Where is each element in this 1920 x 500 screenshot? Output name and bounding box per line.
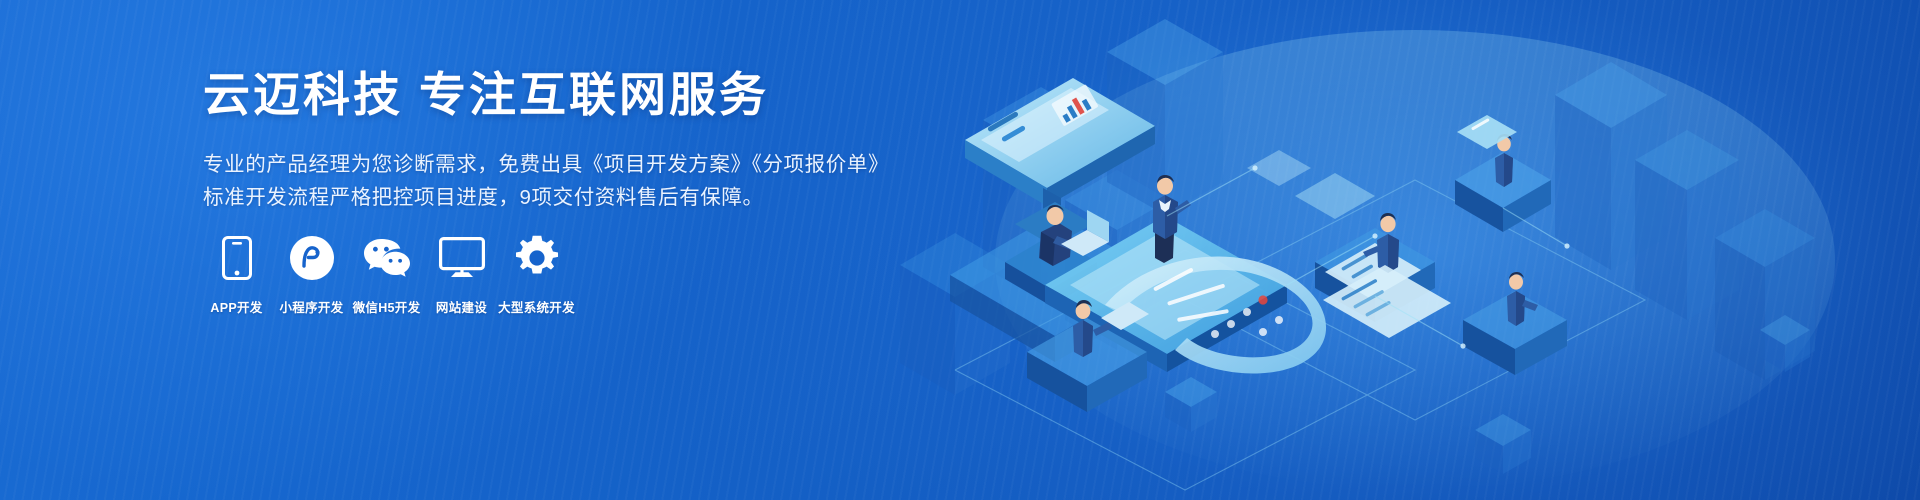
service-item-miniprogram[interactable]: 小程序开发	[275, 232, 348, 316]
mobile-phone-icon	[222, 232, 252, 284]
hero-banner: 云迈科技 专注互联网服务 专业的产品经理为您诊断需求，免费出具《项目开发方案》《…	[0, 0, 1920, 500]
subtitle-line-1: 专业的产品经理为您诊断需求，免费出具《项目开发方案》《分项报价单》	[203, 148, 923, 181]
service-item-app[interactable]: APP开发	[200, 232, 273, 316]
service-item-system[interactable]: 大型系统开发	[500, 232, 573, 316]
hero-text-block: 云迈科技 专注互联网服务 专业的产品经理为您诊断需求，免费出具《项目开发方案》《…	[203, 66, 923, 214]
monitor-icon	[439, 232, 485, 284]
subtitle-line-2: 标准开发流程严格把控项目进度，9项交付资料售后有保障。	[203, 181, 923, 214]
service-list: APP开发 小程序开发	[200, 232, 573, 316]
service-label: 网站建设	[436, 297, 487, 316]
service-label: 大型系统开发	[498, 297, 575, 316]
wechat-icon	[362, 232, 412, 284]
service-label: 微信H5开发	[353, 297, 421, 316]
page-title: 云迈科技 专注互联网服务	[203, 66, 923, 125]
mini-program-icon	[289, 232, 335, 284]
service-item-website[interactable]: 网站建设	[425, 232, 498, 316]
service-label: 小程序开发	[279, 297, 343, 316]
subtitle-block: 专业的产品经理为您诊断需求，免费出具《项目开发方案》《分项报价单》 标准开发流程…	[203, 148, 923, 214]
service-label: APP开发	[210, 297, 262, 316]
service-item-wechat[interactable]: 微信H5开发	[350, 232, 423, 316]
gear-icon	[514, 232, 560, 284]
isometric-illustration	[855, 0, 1920, 500]
